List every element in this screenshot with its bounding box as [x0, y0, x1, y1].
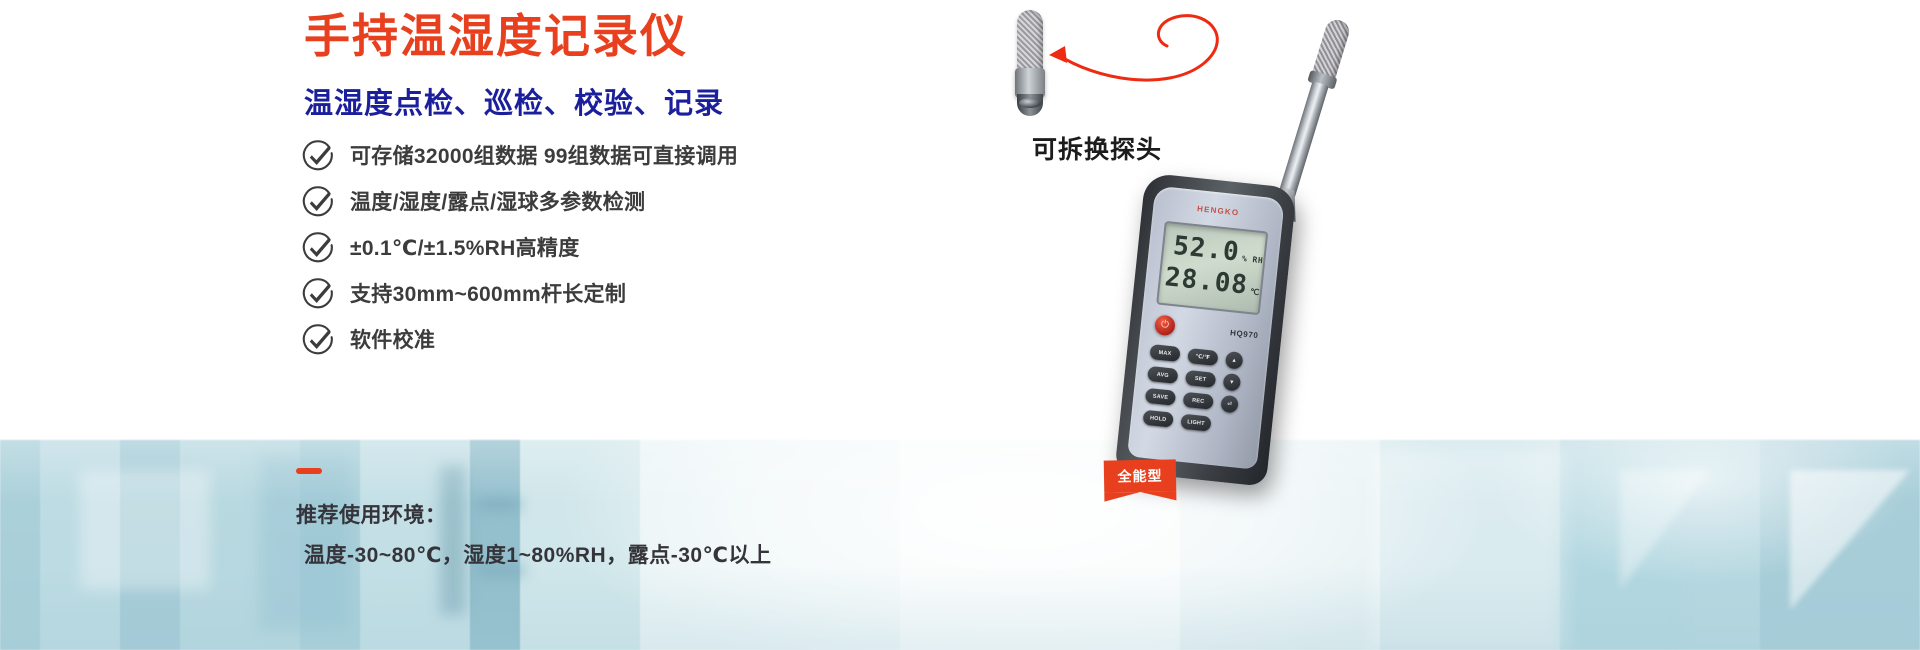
- key-light[interactable]: LIGHT: [1180, 414, 1211, 432]
- keypad: MAX ℃/℉ ▲ AVG SET ▼ SAVE REC ⏎ HOLD LIGH…: [1138, 344, 1258, 455]
- lcd-temperature-unit: ℃: [1250, 287, 1260, 297]
- circled-check-icon: [302, 230, 336, 264]
- key-unit[interactable]: ℃/℉: [1187, 348, 1218, 366]
- power-icon[interactable]: ⏻: [1154, 314, 1176, 336]
- usage-note-heading: 推荐使用环境：: [296, 496, 1056, 536]
- key-down[interactable]: ▼: [1223, 373, 1242, 392]
- rod-shaft: [1278, 81, 1329, 199]
- key-max-min[interactable]: MAX: [1149, 344, 1180, 362]
- meter-device: HENGKO 52.0 % RH 28.08 ℃ ⏻ HQ970 MAX ℃/℉: [1114, 173, 1297, 487]
- status-badge: 全能型: [1104, 459, 1177, 492]
- list-item: 软件校准: [302, 316, 1002, 362]
- key-rec[interactable]: REC: [1183, 392, 1214, 410]
- brand-logo: HENGKO: [1153, 200, 1283, 223]
- list-item-label: 温度/湿度/露点/湿球多参数检测: [350, 186, 645, 216]
- circled-check-icon: [302, 322, 336, 356]
- list-item-label: 可存储32000组数据 99组数据可直接调用: [350, 140, 738, 170]
- list-item: 可存储32000组数据 99组数据可直接调用: [302, 132, 1002, 178]
- key-save[interactable]: SAVE: [1145, 388, 1176, 406]
- rod-mesh-filter: [1312, 17, 1352, 79]
- list-item-label: ±0.1℃/±1.5%RH高精度: [350, 232, 580, 262]
- feature-list: 可存储32000组数据 99组数据可直接调用 温度/湿度/露点/湿球多参数检测: [302, 132, 1002, 362]
- red-dash-divider: [296, 468, 322, 474]
- list-item-label: 软件校准: [350, 324, 435, 354]
- usage-note-block: 推荐使用环境： 温度-30~80℃，湿度1~80%RH，露点-30℃以上: [296, 468, 1056, 576]
- key-set[interactable]: SET: [1185, 370, 1216, 388]
- circled-check-icon: [302, 184, 336, 218]
- circled-check-icon: [302, 276, 336, 310]
- list-item-label: 支持30mm~600mm杆长定制: [350, 278, 626, 308]
- lcd-humidity-unit: % RH: [1242, 254, 1264, 265]
- key-up[interactable]: ▲: [1225, 351, 1244, 370]
- model-label: HQ970: [1230, 328, 1259, 340]
- product-banner: 手持温湿度记录仪 温湿度点检、巡检、校验、记录 可存储32000组数据 99组数…: [0, 0, 1920, 650]
- lcd-display: 52.0 % RH 28.08 ℃: [1156, 221, 1268, 315]
- product-image: HENGKO 52.0 % RH 28.08 ℃ ⏻ HQ970 MAX ℃/℉: [1040, 20, 1400, 640]
- key-enter[interactable]: ⏎: [1220, 395, 1239, 414]
- usage-note-detail: 温度-30~80℃，湿度1~80%RH，露点-30℃以上: [296, 536, 1056, 576]
- circled-check-icon: [302, 138, 336, 172]
- lcd-humidity-row: 52.0 % RH: [1172, 234, 1265, 268]
- list-item: 支持30mm~600mm杆长定制: [302, 270, 1002, 316]
- lcd-humidity-value: 52.0: [1172, 234, 1241, 266]
- lcd-temperature-row: 28.08 ℃: [1164, 265, 1262, 300]
- lcd-temperature-value: 28.08: [1164, 265, 1249, 298]
- key-hold[interactable]: HOLD: [1142, 410, 1173, 428]
- key-avg[interactable]: AVG: [1147, 366, 1178, 384]
- page-subtitle: 温湿度点检、巡检、校验、记录: [304, 80, 724, 122]
- page-title: 手持温湿度记录仪: [304, 12, 688, 60]
- list-item: ±0.1℃/±1.5%RH高精度: [302, 224, 1002, 270]
- list-item: 温度/湿度/露点/湿球多参数检测: [302, 178, 1002, 224]
